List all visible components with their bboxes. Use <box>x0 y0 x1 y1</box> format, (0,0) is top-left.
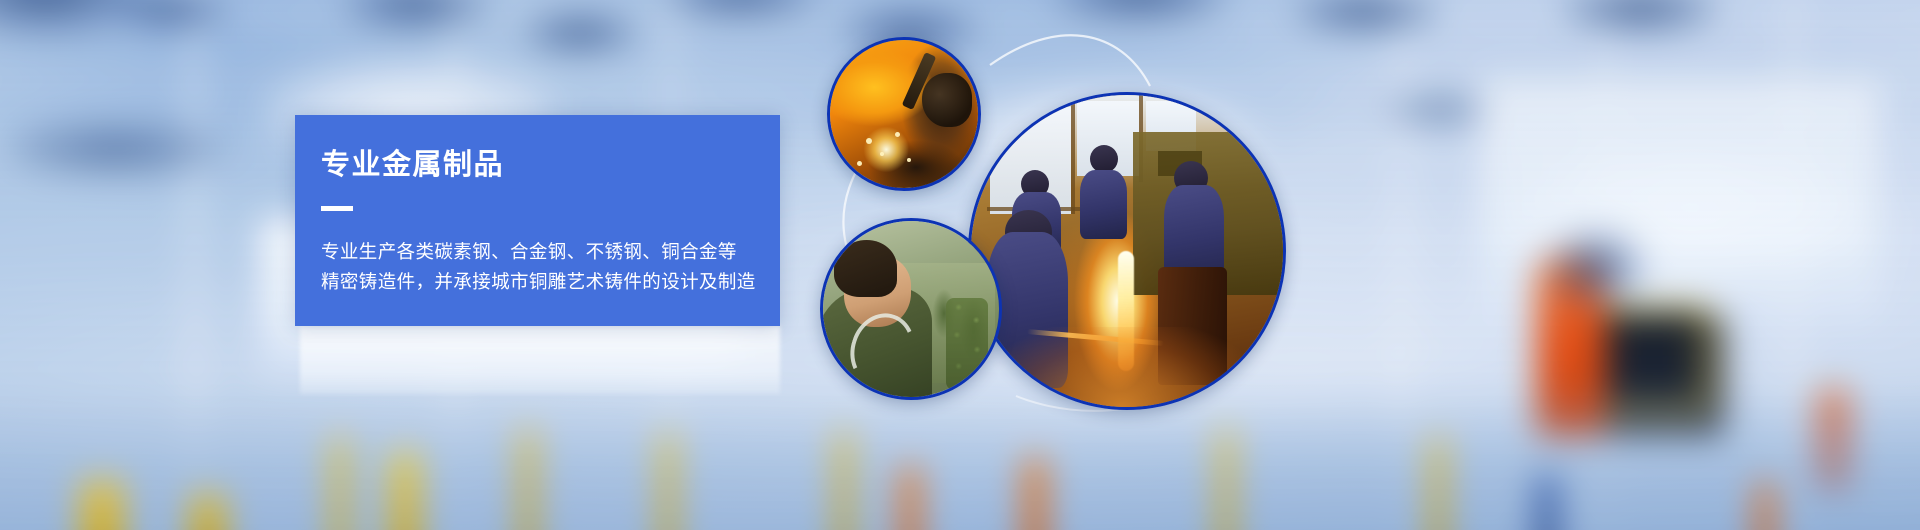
hero-banner: 专业金属制品 专业生产各类碳素钢、合金钢、不锈钢、铜合金等 精密铸造件，并承接城… <box>0 0 1920 530</box>
lower-light-panel <box>300 326 780 394</box>
welder-head-shape <box>922 73 972 127</box>
wax-assembly-photo <box>820 218 1002 400</box>
welding-photo <box>827 37 981 191</box>
wax-tree-cluster <box>946 298 988 390</box>
worker-hair-shape <box>834 240 897 296</box>
welding-photo-image <box>830 40 978 188</box>
panel-title: 专业金属制品 <box>321 150 780 182</box>
title-divider <box>321 206 353 211</box>
wax-assembly-photo-image <box>823 221 999 397</box>
foundry-photo-image <box>971 95 1283 407</box>
foundry-pour-photo <box>968 92 1286 410</box>
molten-glow <box>996 327 1258 407</box>
panel-description: 专业生产各类碳素钢、合金钢、不锈钢、铜合金等 精密铸造件，并承接城市铜雕艺术铸件… <box>321 237 780 297</box>
panel-description-line-1: 专业生产各类碳素钢、合金钢、不锈钢、铜合金等 <box>321 241 737 262</box>
panel-description-line-2: 精密铸造件，并承接城市铜雕艺术铸件的设计及制造 <box>321 267 780 297</box>
promo-text-panel: 专业金属制品 专业生产各类碳素钢、合金钢、不锈钢、铜合金等 精密铸造件，并承接城… <box>295 115 780 326</box>
